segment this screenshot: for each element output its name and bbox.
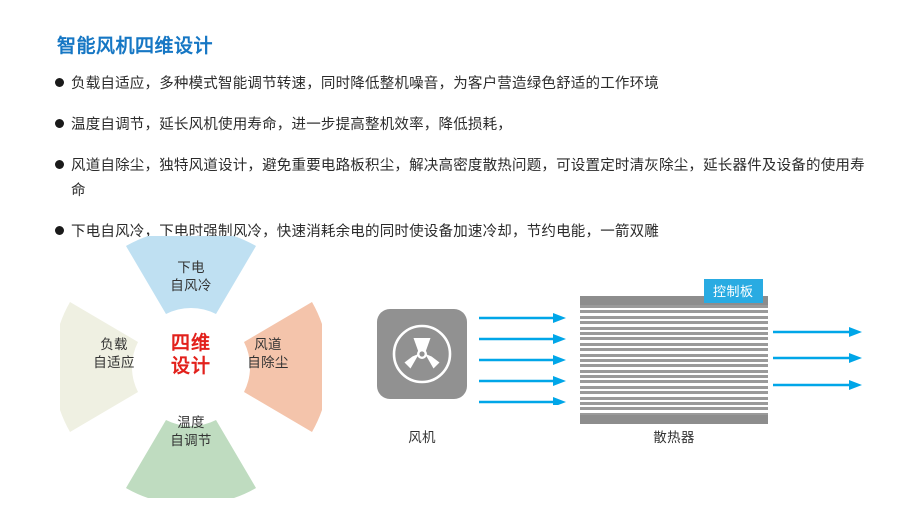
petal-right-line1: 风道 — [254, 337, 282, 353]
bullet-dot-icon — [55, 226, 64, 235]
heatsink-fin — [580, 370, 768, 373]
control-board-badge[interactable]: 控制板 — [704, 279, 763, 303]
heatsink-fin — [580, 327, 768, 330]
bullet-dot-icon — [55, 160, 64, 169]
fan-label: 风机 — [377, 426, 467, 446]
heatsink-fin — [580, 316, 768, 319]
bullet-text: 负载自适应，多种模式智能调节转速，同时降低整机噪音，为客户营造绿色舒适的工作环境 — [71, 72, 659, 97]
slide-canvas: 智能风机四维设计 负载自适应，多种模式智能调节转速，同时降低整机噪音，为客户营造… — [0, 0, 900, 512]
list-item: 负载自适应，多种模式智能调节转速，同时降低整机噪音，为客户营造绿色舒适的工作环境 — [55, 72, 875, 97]
heatsink-fin — [580, 310, 768, 313]
arrow-head-icon — [553, 334, 566, 344]
petal-bottom-line1: 温度 — [177, 415, 205, 431]
heatsink-fin — [580, 354, 768, 357]
arrow-head-icon — [553, 313, 566, 323]
heatsink-fin — [580, 348, 768, 351]
heatsink-fin — [580, 391, 768, 394]
list-item: 风道自除尘，独特风道设计，避免重要电路板积尘，解决高密度散热问题，可设置定时清灰… — [55, 154, 875, 204]
heatsink-fin — [580, 305, 768, 308]
bullet-text: 温度自调节，延长风机使用寿命，进一步提高整机效率，降低损耗， — [71, 113, 512, 138]
arrow-head-icon — [849, 327, 862, 337]
center-line2: 设计 — [171, 355, 211, 377]
heatsink-fin — [580, 321, 768, 324]
feature-bullet-list: 负载自适应，多种模式智能调节转速，同时降低整机噪音，为客户营造绿色舒适的工作环境… — [55, 72, 875, 261]
page-title: 智能风机四维设计 — [57, 31, 213, 58]
heatsink-fins — [580, 305, 768, 415]
heatsink-fin — [580, 337, 768, 340]
petal-bottom-line2: 自调节 — [170, 433, 211, 449]
heatsink-fin — [580, 364, 768, 367]
arrow-head-icon — [553, 355, 566, 365]
arrow-head-icon — [849, 380, 862, 390]
fan-icon — [377, 309, 467, 399]
heatsink-fin — [580, 343, 768, 346]
fan-unit[interactable] — [377, 309, 467, 399]
heatsink-fin — [580, 407, 768, 410]
petal-left-line1: 负载 — [100, 337, 128, 353]
heatsink-fin — [580, 397, 768, 400]
petal-label-bottom: 温度 自调节 — [141, 414, 241, 450]
petal-left-line2: 自适应 — [93, 355, 134, 371]
bullet-dot-icon — [55, 119, 64, 128]
heatsink-fin — [580, 380, 768, 383]
outlet-airflow-arrows — [772, 320, 867, 400]
arrow-head-icon — [553, 397, 566, 405]
heatsink-fin — [580, 359, 768, 362]
four-dimension-petal-diagram: 下电 自风冷 风道 自除尘 温度 自调节 负载 自适应 四维 设计 — [60, 236, 322, 498]
list-item: 温度自调节，延长风机使用寿命，进一步提高整机效率，降低损耗， — [55, 113, 875, 138]
petal-label-top: 下电 自风冷 — [141, 259, 241, 295]
heatsink-fin — [580, 332, 768, 335]
petal-right-line2: 自除尘 — [247, 355, 288, 371]
bullet-dot-icon — [55, 78, 64, 87]
heatsink-fin — [580, 375, 768, 378]
center-line1: 四维 — [171, 332, 211, 354]
arrow-head-icon — [849, 353, 862, 363]
heatsink-bottom-plate — [580, 415, 768, 424]
heatsink-unit[interactable] — [580, 296, 768, 424]
inlet-airflow-arrows — [478, 313, 570, 405]
petal-top-line2: 自风冷 — [170, 278, 211, 294]
petal-center-label: 四维 设计 — [141, 332, 241, 378]
heatsink-label: 散热器 — [580, 426, 768, 446]
petal-top-line1: 下电 — [177, 260, 205, 276]
heatsink-fin — [580, 386, 768, 389]
heatsink-fin — [580, 402, 768, 405]
arrow-head-icon — [553, 376, 566, 386]
bullet-text: 风道自除尘，独特风道设计，避免重要电路板积尘，解决高密度散热问题，可设置定时清灰… — [71, 154, 875, 204]
